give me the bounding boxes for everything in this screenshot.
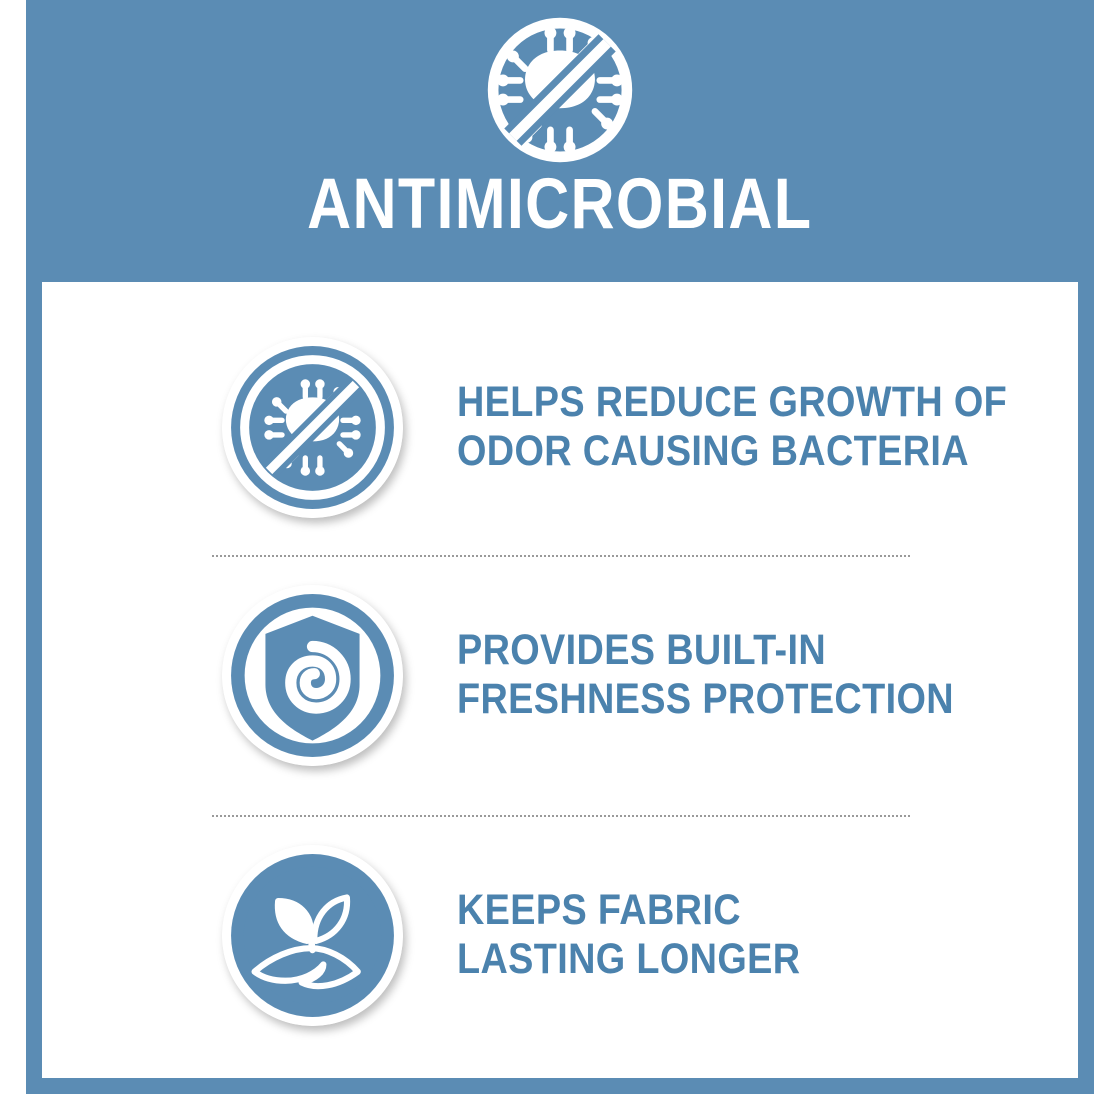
antimicrobial-infographic: ANTIMICROBIAL <box>0 0 1120 1120</box>
feature-icon-container <box>222 337 403 518</box>
feature-text: HELPS REDUCE GROWTH OF ODOR CAUSING BACT… <box>457 378 1007 476</box>
feature-list: HELPS REDUCE GROWTH OF ODOR CAUSING BACT… <box>42 282 1078 1078</box>
feature-text-line-1: PROVIDES BUILT-IN <box>457 626 954 675</box>
feature-text-line-2: FRESHNESS PROTECTION <box>457 675 954 724</box>
list-item: PROVIDES BUILT-IN FRESHNESS PROTECTION <box>42 563 1078 787</box>
feature-text-line-1: KEEPS FABRIC <box>457 886 800 935</box>
page-title: ANTIMICROBIAL <box>307 168 812 242</box>
feature-text-line-2: LASTING LONGER <box>457 935 800 984</box>
no-virus-icon <box>484 14 636 166</box>
header: ANTIMICROBIAL <box>26 0 1094 282</box>
no-virus-badge-icon <box>222 337 403 518</box>
feature-icon-container <box>222 585 403 766</box>
feature-icon-container <box>222 845 403 1026</box>
feature-text-line-1: HELPS REDUCE GROWTH OF <box>457 378 1007 427</box>
leaf-sprout-badge-icon <box>222 845 403 1026</box>
feature-text: PROVIDES BUILT-IN FRESHNESS PROTECTION <box>457 626 954 724</box>
divider-1 <box>212 555 910 557</box>
list-item: KEEPS FABRIC LASTING LONGER <box>42 823 1078 1047</box>
feature-text-line-2: ODOR CAUSING BACTERIA <box>457 427 1007 476</box>
divider-2 <box>212 815 910 817</box>
feature-text: KEEPS FABRIC LASTING LONGER <box>457 886 800 984</box>
list-item: HELPS REDUCE GROWTH OF ODOR CAUSING BACT… <box>42 315 1078 539</box>
shield-swirl-badge-icon <box>222 585 403 766</box>
